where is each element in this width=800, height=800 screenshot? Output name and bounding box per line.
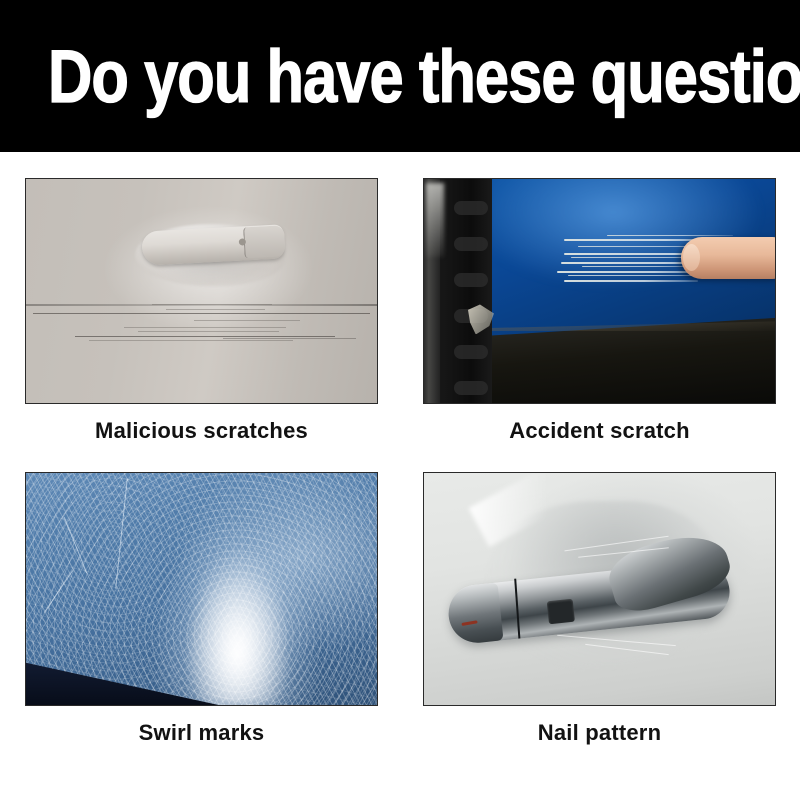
scratch-line xyxy=(607,235,733,236)
chrome-handle-tip xyxy=(445,582,503,645)
photo-nail-pattern xyxy=(423,472,776,706)
door-handle-cap-shape xyxy=(243,226,286,259)
tire-tread-block xyxy=(454,345,488,359)
scratch-line xyxy=(75,336,335,337)
caption-swirl-marks: Swirl marks xyxy=(25,720,378,746)
scratch-line xyxy=(89,340,293,341)
tire-tread-block xyxy=(454,381,488,395)
photo-swirl-marks xyxy=(25,472,378,706)
fingernail-shape xyxy=(683,244,700,271)
caption-nail-pattern: Nail pattern xyxy=(423,720,776,746)
tire-tread-block xyxy=(454,237,488,251)
sun-glare-highlight xyxy=(184,543,294,703)
caption-malicious-scratches: Malicious scratches xyxy=(25,418,378,444)
gallery-item-malicious-scratches: Malicious scratches xyxy=(25,178,378,444)
header-banner: Do you have these question? xyxy=(0,0,800,152)
page-title: Do you have these question? xyxy=(48,39,800,113)
problem-gallery-grid: Malicious scratches xyxy=(0,152,800,800)
door-keyhole-shape xyxy=(238,238,245,245)
tire-highlight xyxy=(426,183,444,257)
scratch-line xyxy=(138,331,278,332)
scratch-line xyxy=(33,313,370,314)
tire-shape xyxy=(424,179,492,403)
chrome-handle-seam-line xyxy=(514,578,520,638)
scratch-line xyxy=(223,338,356,339)
rocker-panel-edge xyxy=(476,321,775,331)
scratch-line xyxy=(564,280,697,282)
tire-tread-block xyxy=(454,201,488,215)
gallery-item-accident-scratch: Accident scratch xyxy=(423,178,776,444)
gallery-item-nail-pattern: Nail pattern xyxy=(423,472,776,746)
scratch-line xyxy=(124,327,285,328)
caption-accident-scratch: Accident scratch xyxy=(423,418,776,444)
pointing-finger-shape xyxy=(681,237,776,279)
gallery-item-swirl-marks: Swirl marks xyxy=(25,472,378,746)
scratch-line xyxy=(166,309,264,310)
photo-malicious-scratches xyxy=(25,178,378,404)
photo-accident-scratch xyxy=(423,178,776,404)
tire-tread-block xyxy=(454,273,488,287)
scratch-line xyxy=(152,304,271,305)
scratch-line xyxy=(194,320,299,321)
keyless-sensor-button xyxy=(547,599,575,625)
